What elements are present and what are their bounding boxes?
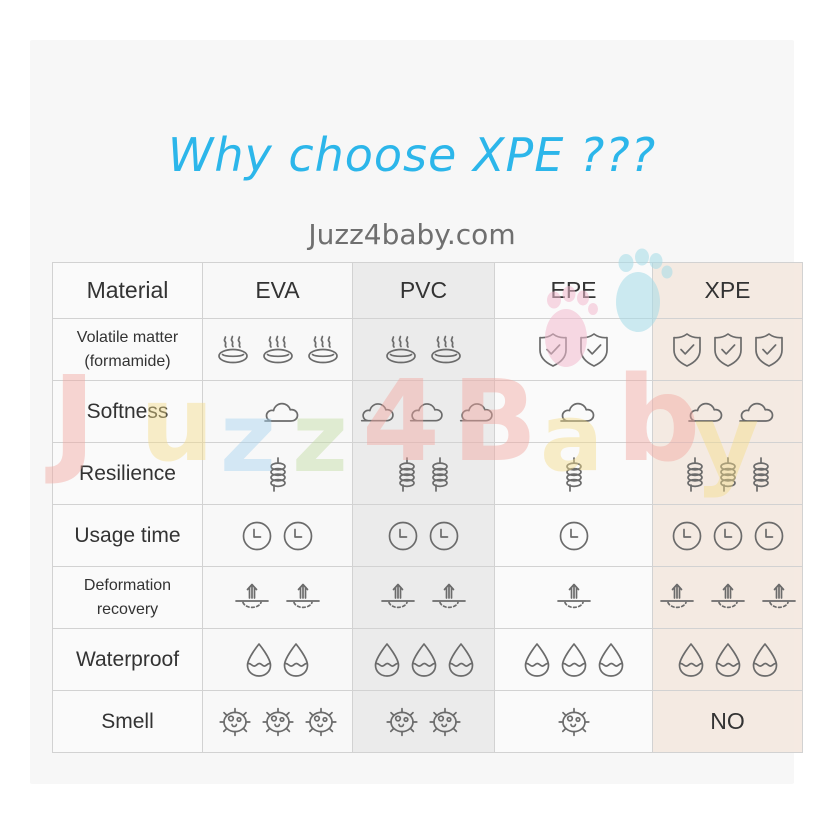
cell-softness-xpe <box>653 381 803 443</box>
shield-check-icon <box>711 331 745 369</box>
spring-icon <box>715 454 741 494</box>
rebound-icon <box>281 581 325 615</box>
rebound-icon <box>230 581 274 615</box>
clock-icon <box>240 519 274 553</box>
shield-check-icon <box>577 331 611 369</box>
table-row: Deformationrecovery <box>53 567 803 629</box>
row-label-smell: Smell <box>53 691 203 753</box>
steam-icon <box>214 333 252 367</box>
cell-deformation-pvc <box>353 567 495 629</box>
icon-group <box>495 629 652 690</box>
cell-smell-xpe-no: NO <box>653 691 803 753</box>
table-row: Resilience <box>53 443 803 505</box>
cell-smell-epe <box>495 691 653 753</box>
cell-waterproof-epe <box>495 629 653 691</box>
rebound-icon <box>427 581 471 615</box>
icon-group <box>203 629 352 690</box>
cloud-icon <box>402 398 444 426</box>
icon-group <box>353 319 494 380</box>
table-row: Smell <box>53 691 803 753</box>
row-label-volatile-matter: Volatile matter(formamide) <box>53 319 203 381</box>
cell-deformation-xpe <box>653 567 803 629</box>
shield-check-icon <box>670 331 704 369</box>
site-name: Juzz4baby.com <box>0 218 824 251</box>
table-row: Softness <box>53 381 803 443</box>
row-label-usage-time: Usage time <box>53 505 203 567</box>
droplet-icon <box>522 641 552 679</box>
droplet-icon <box>750 641 780 679</box>
clock-icon <box>711 519 745 553</box>
cell-waterproof-xpe <box>653 629 803 691</box>
clock-icon <box>281 519 315 553</box>
germ-icon <box>556 705 592 739</box>
steam-icon <box>259 333 297 367</box>
rebound-icon <box>706 581 750 615</box>
steam-icon <box>382 333 420 367</box>
cell-softness-eva <box>203 381 353 443</box>
icon-group <box>653 629 802 690</box>
cell-usage-time-pvc <box>353 505 495 567</box>
droplet-icon <box>409 641 439 679</box>
cloud-icon <box>552 398 596 426</box>
table-header-row: MaterialEVAPVCEPEXPE <box>53 263 803 319</box>
clock-icon <box>670 519 704 553</box>
droplet-icon <box>559 641 589 679</box>
icon-group <box>495 381 652 442</box>
cell-deformation-epe <box>495 567 653 629</box>
cloud-icon <box>680 398 724 426</box>
column-header-pvc: PVC <box>353 263 495 319</box>
icon-group <box>653 567 802 628</box>
spring-icon <box>748 454 774 494</box>
cell-resilience-eva <box>203 443 353 505</box>
icon-group <box>653 319 802 380</box>
droplet-icon <box>713 641 743 679</box>
icon-group <box>203 319 352 380</box>
icon-group <box>353 691 494 752</box>
cell-volatile-matter-pvc <box>353 319 495 381</box>
icon-group <box>353 567 494 628</box>
germ-icon <box>260 705 296 739</box>
cell-deformation-eva <box>203 567 353 629</box>
row-label-deformation: Deformationrecovery <box>53 567 203 629</box>
spring-icon <box>394 454 420 494</box>
icon-group <box>203 691 352 752</box>
icon-group <box>203 567 352 628</box>
table-row: Waterproof <box>53 629 803 691</box>
cell-waterproof-pvc <box>353 629 495 691</box>
clock-icon <box>557 519 591 553</box>
icon-group <box>495 691 652 752</box>
cloud-icon <box>353 398 395 426</box>
column-header-epe: EPE <box>495 263 653 319</box>
cell-resilience-epe <box>495 443 653 505</box>
spring-icon <box>265 454 291 494</box>
droplet-icon <box>676 641 706 679</box>
spring-icon <box>682 454 708 494</box>
icon-group <box>653 505 802 566</box>
germ-icon <box>217 705 253 739</box>
icon-group <box>495 505 652 566</box>
icon-group <box>495 443 652 504</box>
rebound-icon <box>376 581 420 615</box>
cell-smell-pvc <box>353 691 495 753</box>
clock-icon <box>386 519 420 553</box>
material-comparison-table: MaterialEVAPVCEPEXPEVolatile matter(form… <box>52 262 803 753</box>
cell-resilience-xpe <box>653 443 803 505</box>
icon-group <box>353 505 494 566</box>
steam-icon <box>304 333 342 367</box>
rebound-icon <box>552 581 596 615</box>
table-row: Usage time <box>53 505 803 567</box>
droplet-icon <box>446 641 476 679</box>
shield-check-icon <box>536 331 570 369</box>
table-row: Volatile matter(formamide) <box>53 319 803 381</box>
cell-softness-epe <box>495 381 653 443</box>
cell-volatile-matter-epe <box>495 319 653 381</box>
droplet-icon <box>372 641 402 679</box>
clock-icon <box>752 519 786 553</box>
droplet-icon <box>596 641 626 679</box>
icon-group <box>353 443 494 504</box>
cell-usage-time-epe <box>495 505 653 567</box>
cloud-icon <box>731 398 775 426</box>
column-header-xpe: XPE <box>653 263 803 319</box>
cloud-icon <box>256 398 300 426</box>
row-label-softness: Softness <box>53 381 203 443</box>
germ-icon <box>303 705 339 739</box>
icon-group <box>353 629 494 690</box>
icon-group <box>203 381 352 442</box>
icon-group <box>653 443 802 504</box>
cell-softness-pvc <box>353 381 495 443</box>
page-title: Why choose XPE ??? <box>0 128 824 182</box>
column-header-material: Material <box>53 263 203 319</box>
droplet-icon <box>281 641 311 679</box>
cloud-icon <box>452 398 494 426</box>
cell-usage-time-xpe <box>653 505 803 567</box>
cell-waterproof-eva <box>203 629 353 691</box>
germ-icon <box>427 705 463 739</box>
cell-volatile-matter-xpe <box>653 319 803 381</box>
icon-group <box>495 319 652 380</box>
spring-icon <box>427 454 453 494</box>
icon-group <box>203 443 352 504</box>
rebound-icon <box>757 581 801 615</box>
germ-icon <box>384 705 420 739</box>
clock-icon <box>427 519 461 553</box>
icon-group <box>495 567 652 628</box>
icon-group <box>353 381 494 442</box>
row-label-waterproof: Waterproof <box>53 629 203 691</box>
cell-resilience-pvc <box>353 443 495 505</box>
cell-smell-eva <box>203 691 353 753</box>
column-header-eva: EVA <box>203 263 353 319</box>
steam-icon <box>427 333 465 367</box>
icon-group <box>653 381 802 442</box>
cell-volatile-matter-eva <box>203 319 353 381</box>
rebound-icon <box>655 581 699 615</box>
row-label-resilience: Resilience <box>53 443 203 505</box>
comparison-infographic: J u z z 4 B a b y Why choose XPE ??? Juz… <box>0 0 824 824</box>
spring-icon <box>561 454 587 494</box>
droplet-icon <box>244 641 274 679</box>
icon-group <box>203 505 352 566</box>
shield-check-icon <box>752 331 786 369</box>
cell-usage-time-eva <box>203 505 353 567</box>
